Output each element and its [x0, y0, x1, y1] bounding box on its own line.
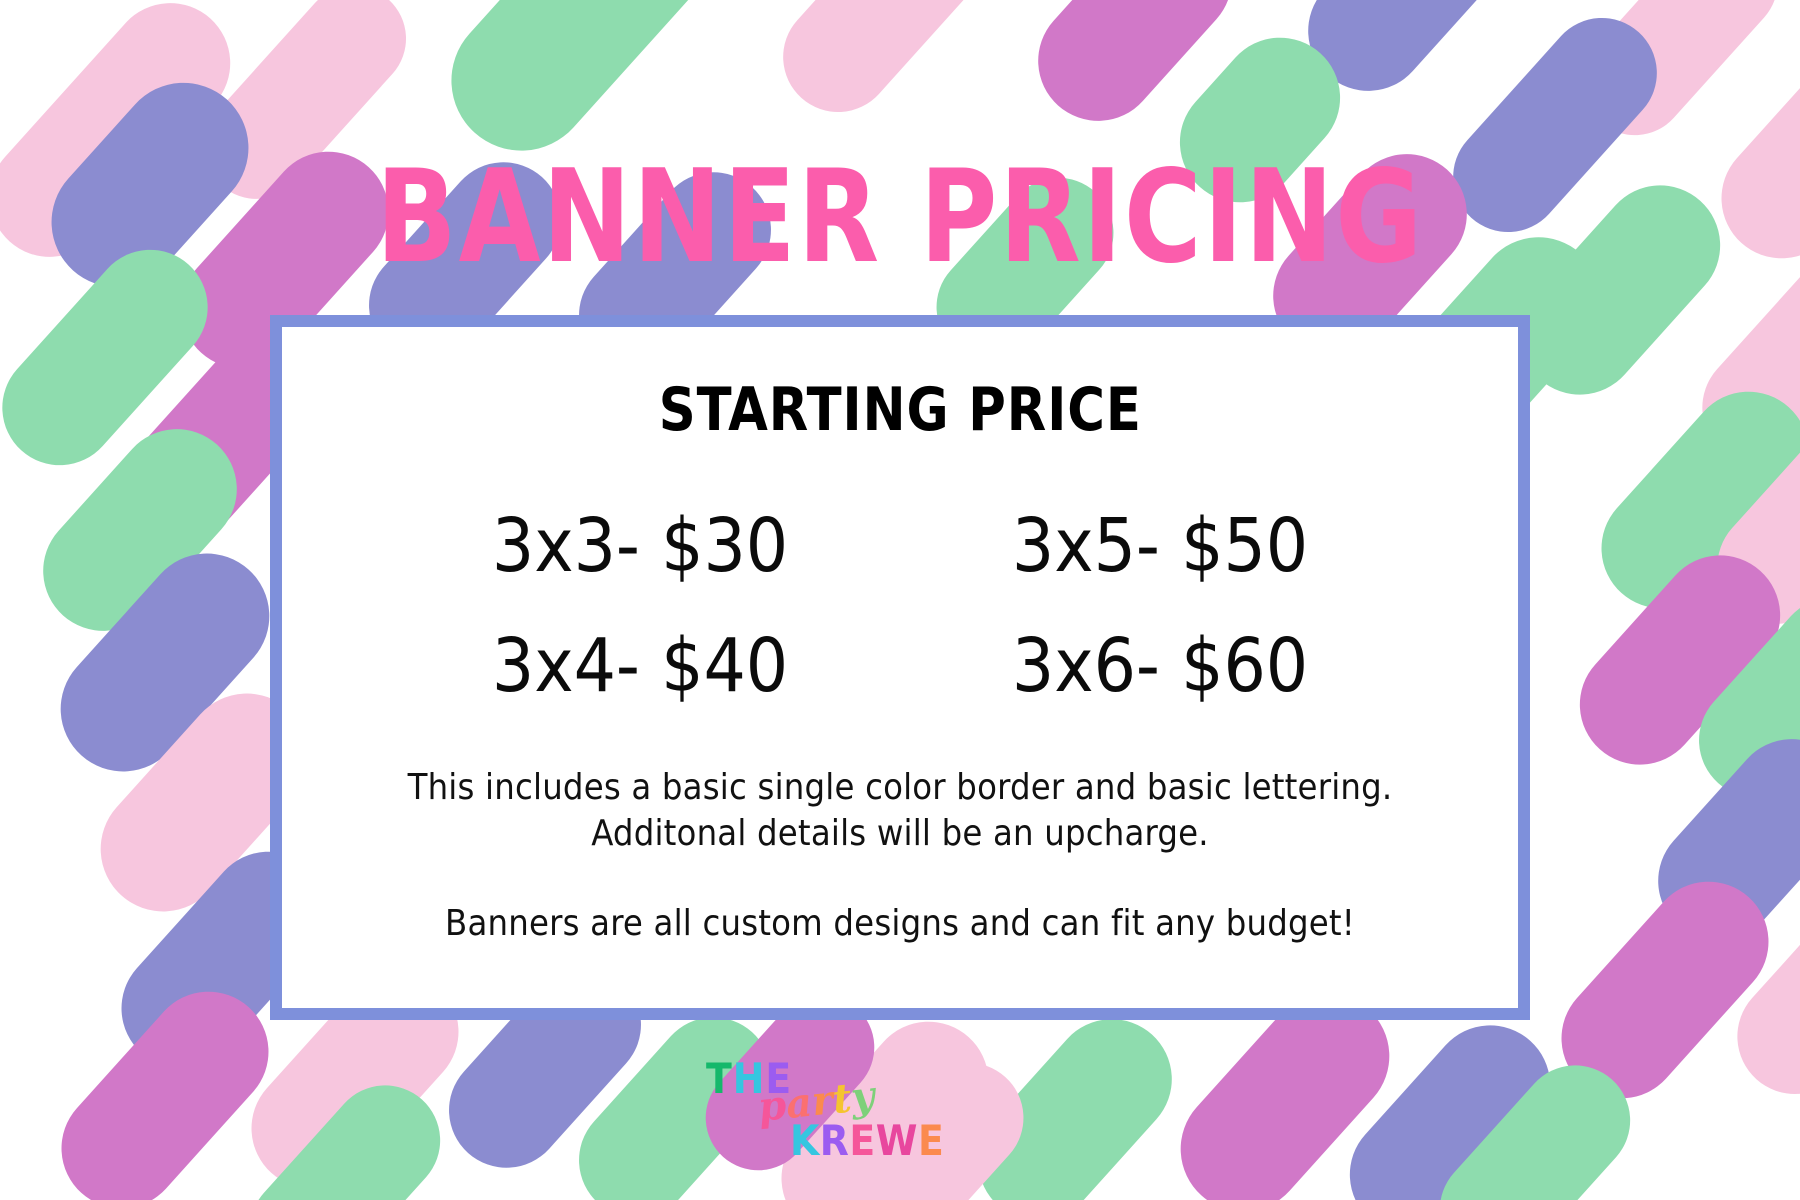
note-line: Additonal details will be an upcharge.: [345, 811, 1455, 857]
price-item: 3x5- $50: [1012, 507, 1308, 587]
price-item: 3x3- $30: [492, 507, 788, 587]
price-item: 3x6- $60: [1012, 627, 1308, 707]
notes-block: This includes a basic single color borde…: [345, 765, 1455, 947]
note-line: This includes a basic single color borde…: [345, 765, 1455, 811]
logo-krewe-letter: R: [820, 1120, 850, 1162]
logo-krewe-letter: E: [849, 1120, 875, 1162]
logo-line-krewe: KREWE: [790, 1120, 944, 1162]
confetti-shape: [760, 0, 1009, 135]
price-item: 3x4- $40: [492, 627, 788, 707]
price-grid: 3x3- $30 3x5- $50 3x4- $40 3x6- $60: [380, 507, 1420, 707]
pricing-card: STARTING PRICE 3x3- $30 3x5- $50 3x4- $4…: [270, 315, 1530, 1020]
banner-pricing-poster: BANNER PRICING STARTING PRICE 3x3- $30 3…: [0, 0, 1800, 1200]
logo-krewe-letter: E: [918, 1120, 944, 1162]
logo-party-letter: y: [849, 1076, 876, 1118]
starting-price-heading: STARTING PRICE: [658, 375, 1141, 445]
page-title: BANNER PRICING: [72, 154, 1728, 282]
note-line: Banners are all custom designs and can f…: [345, 901, 1455, 947]
note-spacer: [345, 857, 1455, 901]
logo-krewe-letter: W: [876, 1120, 918, 1162]
logo-krewe-letter: K: [790, 1120, 820, 1162]
logo-the-letter: T: [706, 1058, 733, 1100]
logo-party-letter: p: [756, 1085, 788, 1128]
brand-logo: THE party KREWE: [700, 1052, 900, 1172]
